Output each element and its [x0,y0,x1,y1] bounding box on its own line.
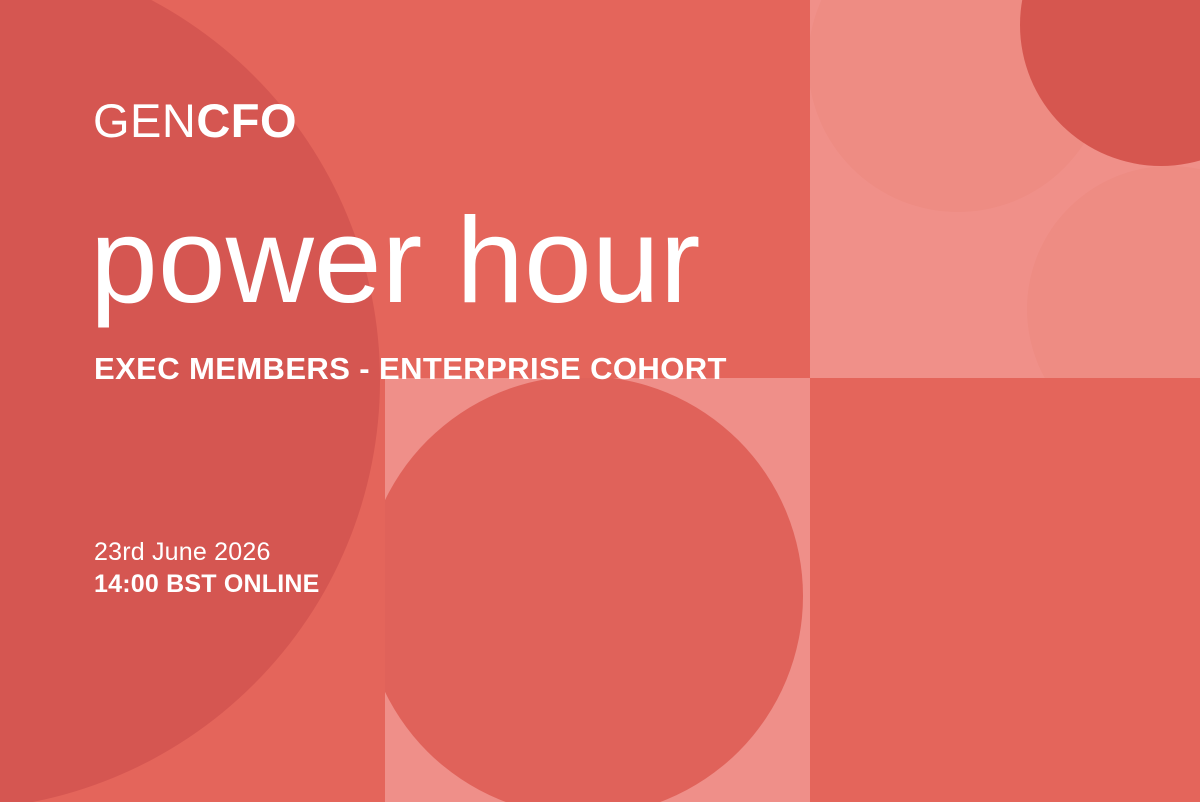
poster-subtitle: EXEC MEMBERS - ENTERPRISE COHORT [94,350,727,387]
poster-content: GENCFO power hour EXEC MEMBERS - ENTERPR… [0,0,1200,802]
event-details: 23rd June 2026 14:00 BST ONLINE [94,536,319,600]
brand-logo: GENCFO [93,97,297,144]
event-poster: GENCFO power hour EXEC MEMBERS - ENTERPR… [0,0,1200,802]
event-time-location: 14:00 BST ONLINE [94,568,319,600]
event-date: 23rd June 2026 [94,536,319,568]
poster-title: power hour [90,196,700,324]
brand-logo-cfo: CFO [196,94,297,147]
brand-logo-gen: GEN [93,94,196,147]
